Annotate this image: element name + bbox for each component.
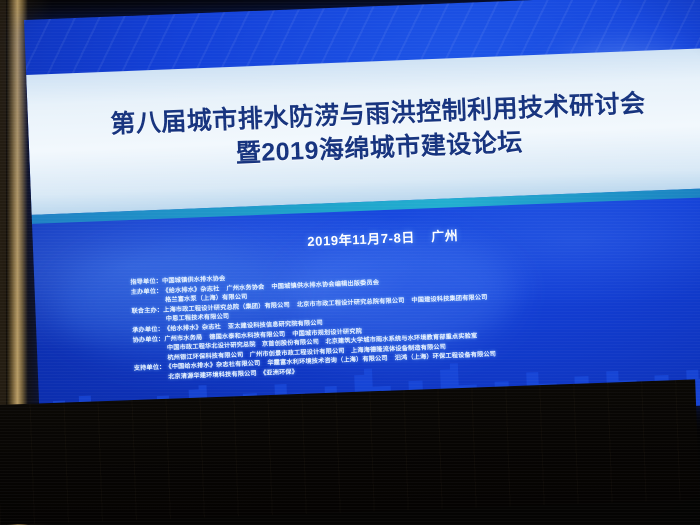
organizer-name: 广州水务协会 bbox=[226, 283, 264, 291]
title-panel: 第八届城市排水防涝与雨洪控制利用技术研讨会 暨2019海绵城市建设论坛 bbox=[26, 47, 700, 214]
organizer-name: 广州市水务局 bbox=[164, 334, 202, 342]
conference-title-line1: 第八届城市排水防涝与雨洪控制利用技术研讨会 bbox=[110, 89, 646, 140]
conference-title-line2: 暨2019海绵城市建设论坛 bbox=[235, 128, 523, 169]
dark-stage-foreground bbox=[0, 379, 700, 525]
event-city: 广州 bbox=[431, 228, 459, 244]
organizer-label: 联合主办： bbox=[131, 306, 163, 317]
organizer-name: 《给水排水》杂志社 bbox=[164, 323, 221, 332]
organizer-label: 主办单位： bbox=[131, 286, 163, 297]
conference-backdrop-photo: 第八届城市排水防涝与雨洪控制利用技术研讨会 暨2019海绵城市建设论坛 2019… bbox=[0, 0, 700, 525]
led-screen: 第八届城市排水防涝与雨洪控制利用技术研讨会 暨2019海绵城市建设论坛 2019… bbox=[24, 0, 700, 432]
stage-texture bbox=[0, 379, 700, 525]
organizer-label: 协办单位： bbox=[132, 334, 164, 345]
event-date: 2019年11月7-8日 bbox=[307, 230, 415, 249]
organizer-name: 《给水排水》杂志社 bbox=[162, 285, 219, 294]
organizer-name: 中国建设科技集团有限公司 bbox=[411, 294, 487, 304]
